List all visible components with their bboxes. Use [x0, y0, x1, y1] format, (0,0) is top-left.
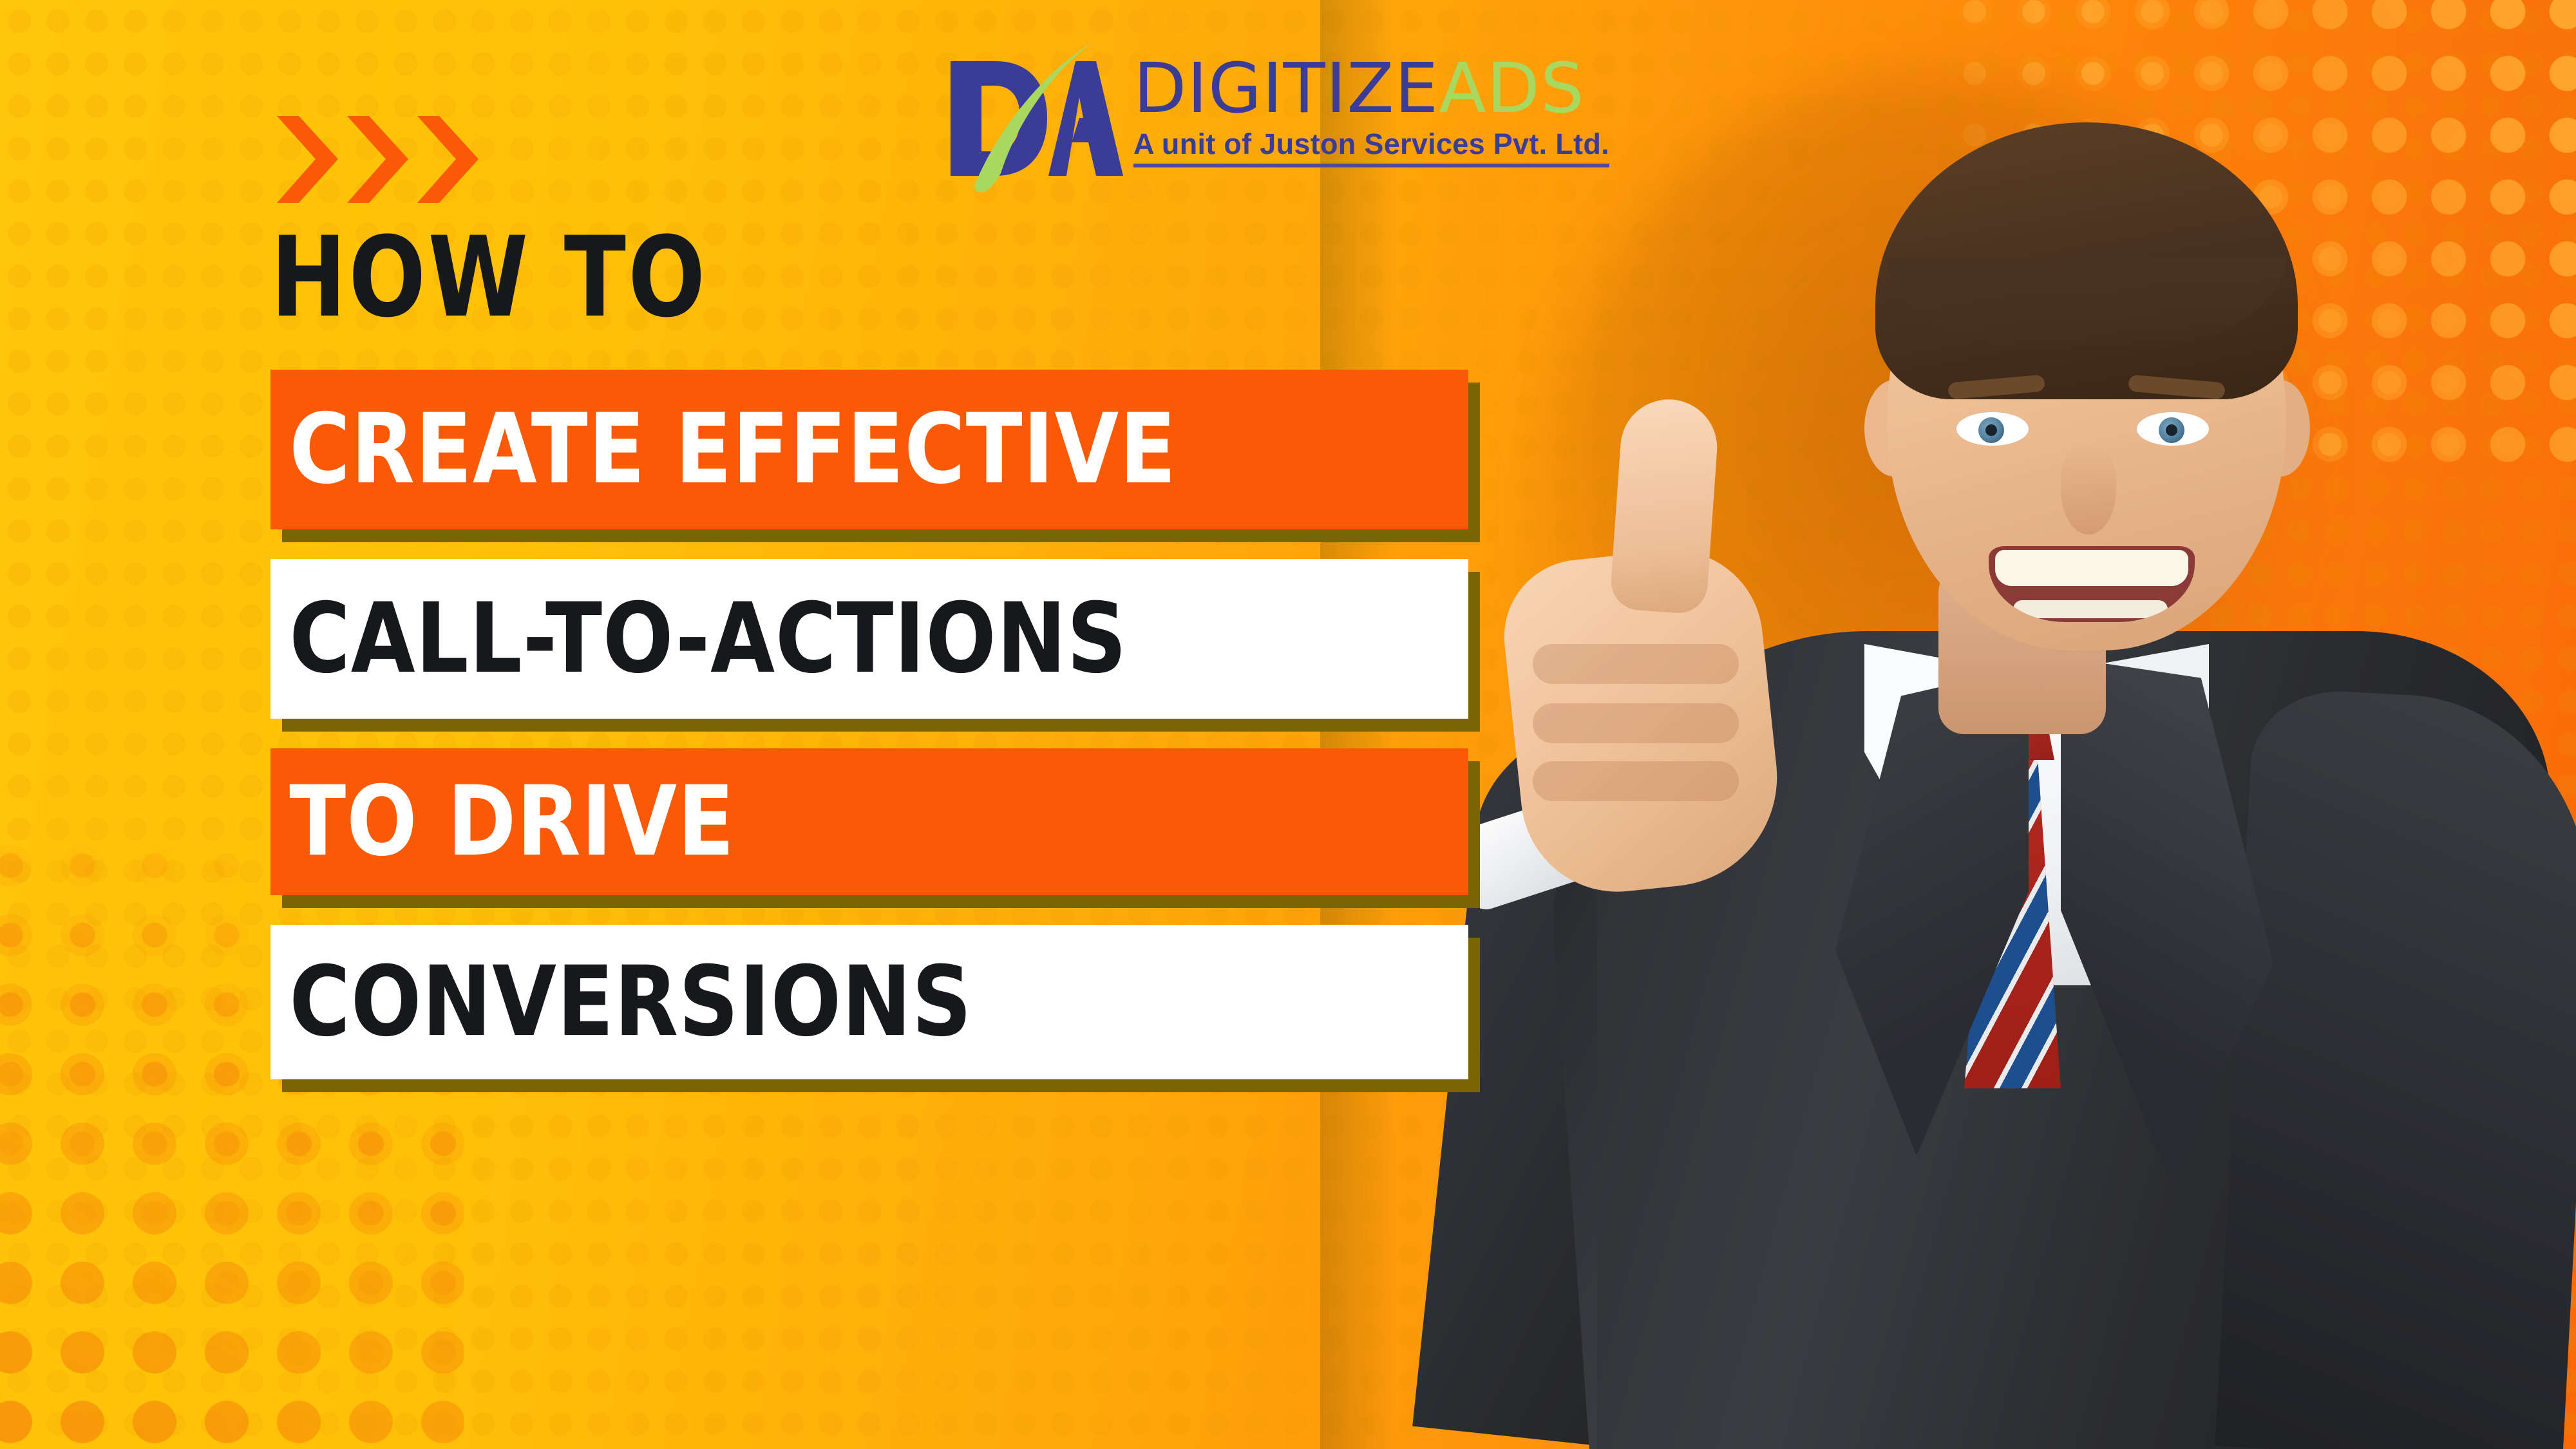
- brand-logo[interactable]: DIGITIZEADS A unit of Juston Services Pv…: [934, 35, 1609, 200]
- headline-line-2: CALL-TO-ACTIONS: [270, 591, 1127, 687]
- logo-wordmark: DIGITIZEADS: [1133, 55, 1609, 124]
- eye-left: [1956, 412, 2029, 446]
- headline-bar-1: CREATE EFFECTIVE: [270, 370, 1468, 529]
- bar-face: TO DRIVE: [270, 748, 1468, 895]
- headline-bar-3: TO DRIVE: [270, 748, 1468, 895]
- headline-line-4: CONVERSIONS: [270, 954, 972, 1050]
- thumb-up-icon: [1609, 396, 1721, 615]
- knuckle-line: [1533, 644, 1739, 684]
- headline-bar-2: CALL-TO-ACTIONS: [270, 559, 1468, 719]
- nose: [2061, 444, 2116, 535]
- shoulder-right: [2215, 687, 2576, 1449]
- bar-face: CONVERSIONS: [270, 925, 1468, 1079]
- headline-line-3: TO DRIVE: [270, 773, 735, 870]
- businessman-photo: [1320, 0, 2576, 1449]
- chevron-right-icon: [347, 116, 408, 203]
- logo-underline-rule: [1133, 164, 1609, 167]
- logo-word-primary: DIGITIZE: [1133, 49, 1439, 129]
- triple-chevron-right-icon: [277, 116, 478, 203]
- logo-tagline: A unit of Juston Services Pvt. Ltd.: [1133, 128, 1609, 161]
- knuckle-line: [1533, 761, 1739, 801]
- logo-text-block: DIGITIZEADS A unit of Juston Services Pv…: [1133, 35, 1609, 167]
- eye-right: [2137, 412, 2209, 446]
- headline-block: HOW TO CREATE EFFECTIVE CALL-TO-ACTIONS …: [270, 225, 1468, 1079]
- headline-kicker: HOW TO: [270, 225, 1253, 330]
- logo-word-accent: ADS: [1439, 49, 1585, 129]
- chevron-right-icon: [277, 116, 338, 203]
- bar-face: CREATE EFFECTIVE: [270, 370, 1468, 529]
- knuckle-line: [1533, 703, 1739, 743]
- smiling-mouth: [1989, 546, 2195, 622]
- bar-face: CALL-TO-ACTIONS: [270, 559, 1468, 719]
- promo-banner: DIGITIZEADS A unit of Juston Services Pv…: [0, 0, 2576, 1449]
- headline-bar-4: CONVERSIONS: [270, 925, 1468, 1079]
- chevron-right-icon: [417, 116, 478, 203]
- headline-line-1: CREATE EFFECTIVE: [270, 401, 1177, 498]
- da-monogram-icon: [934, 35, 1127, 200]
